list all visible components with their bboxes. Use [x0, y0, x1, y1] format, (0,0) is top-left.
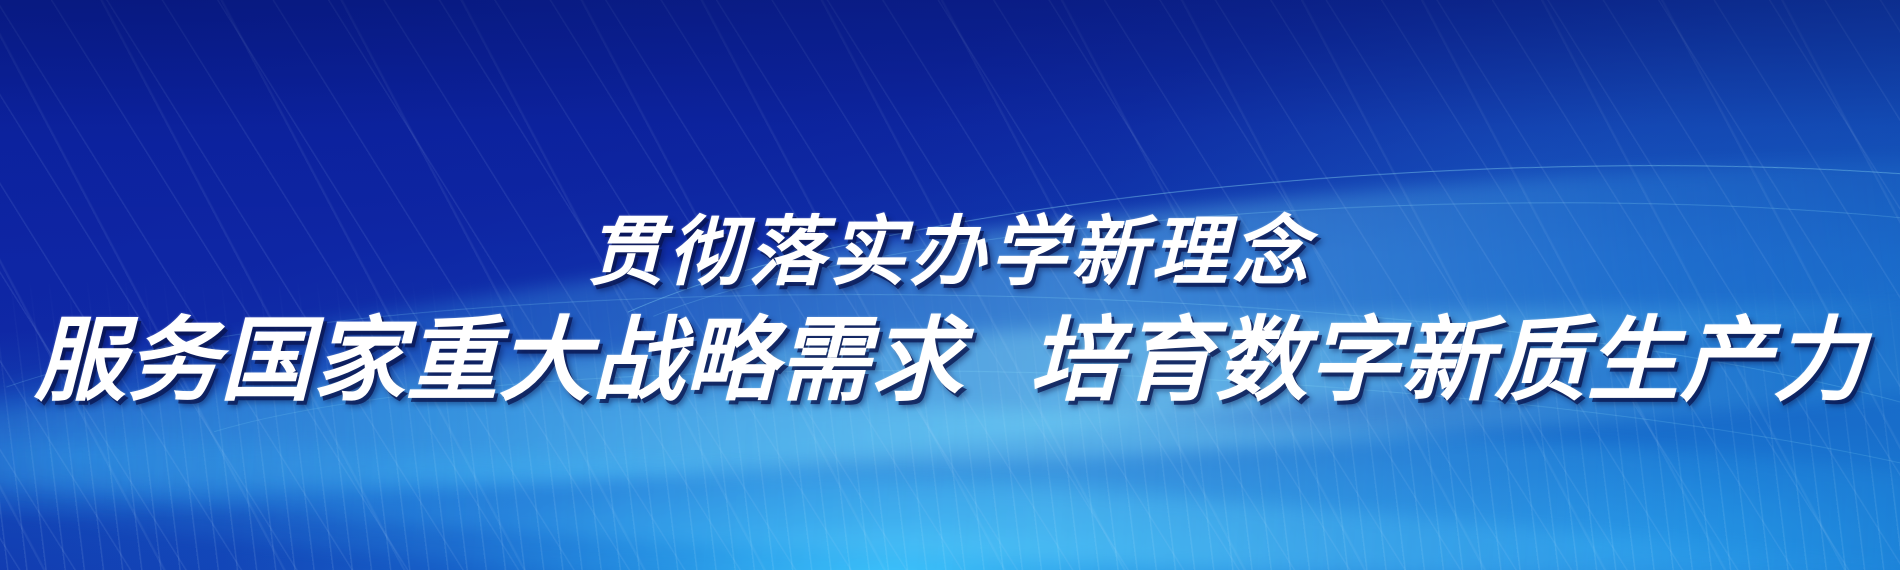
- slogan-banner: 贯彻落实办学新理念 服务国家重大战略需求 培育数字新质生产力: [0, 0, 1900, 570]
- slogan-line-1: 贯彻落实办学新理念: [587, 214, 1312, 290]
- slogan-text-block: 贯彻落实办学新理念 服务国家重大战略需求 培育数字新质生产力: [0, 0, 1900, 570]
- slogan-line-2: 服务国家重大战略需求 培育数字新质生产力: [34, 314, 1865, 406]
